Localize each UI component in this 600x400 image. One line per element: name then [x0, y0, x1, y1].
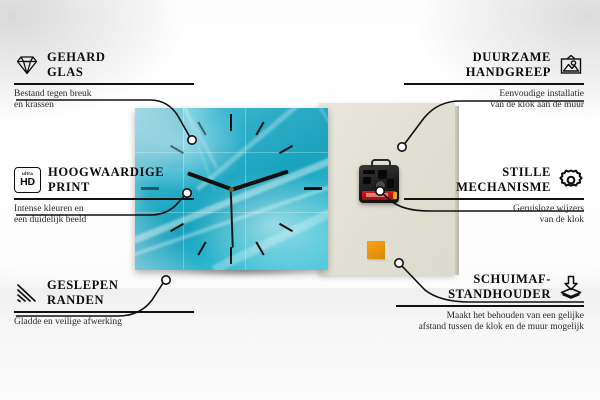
mechanism-hanger: [371, 159, 391, 169]
feature-title: HOOGWAARDIGE PRINT: [48, 165, 164, 195]
feature-header: GEHARD GLAS: [14, 50, 194, 80]
feature-description: Gladde en veilige afwerking: [14, 317, 194, 329]
feature-title: GESLEPEN RANDEN: [47, 278, 119, 308]
spacer-stamp-icon: [558, 275, 584, 299]
feature-duurzame-handgreep: DUURZAME HANDGREEP Eenvoudige installati…: [404, 50, 584, 112]
feature-stille-mechanisme: STILLE MECHANISME Geruisloze wijzers van…: [404, 165, 584, 227]
mechanism-slot: [363, 170, 375, 174]
clock-tick: [304, 187, 322, 190]
mechanism-slot: [378, 170, 387, 179]
feature-gehard-glas: GEHARD GLAS Bestand tegen breuk en krass…: [14, 50, 194, 112]
clock-mechanism: [359, 165, 399, 203]
feature-schuimafstandhouder: SCHUIMAF- STANDHOUDER Maakt het behouden…: [396, 272, 584, 334]
clock-tick: [197, 242, 206, 256]
feature-description: Bestand tegen breuk en krassen: [14, 89, 194, 112]
feature-divider: [404, 83, 584, 85]
infographic-canvas: GEHARD GLAS Bestand tegen breuk en krass…: [0, 0, 600, 400]
picture-frame-icon: [558, 53, 584, 77]
feature-title: GEHARD GLAS: [47, 50, 105, 80]
feature-header: STILLE MECHANISME: [404, 165, 584, 195]
feature-divider: [396, 305, 584, 307]
feature-header: GESLEPEN RANDEN: [14, 278, 194, 308]
feature-divider: [14, 83, 194, 85]
ultra-hd-icon: ultra HD: [14, 167, 41, 193]
feature-description: Eenvoudige installatie van de klok aan d…: [404, 89, 584, 112]
mechanism-slot: [363, 177, 371, 184]
feature-description: Intense kleuren en een duidelijk beeld: [14, 204, 194, 227]
feature-header: ultra HD HOOGWAARDIGE PRINT: [14, 165, 194, 195]
feature-description: Geruisloze wijzers van de klok: [404, 204, 584, 227]
feature-description: Maakt het behouden van een gelijke afsta…: [396, 311, 584, 334]
clock-tick: [230, 114, 232, 131]
feature-title: SCHUIMAF- STANDHOUDER: [448, 272, 551, 302]
mechanism-slot: [387, 179, 394, 188]
clock-center-cap: [229, 187, 234, 192]
battery-terminal: [393, 192, 397, 199]
feature-geslepen-randen: GESLEPEN RANDEN Gladde en veilige afwerk…: [14, 278, 194, 328]
feature-header: SCHUIMAF- STANDHOUDER: [396, 272, 584, 302]
gear-icon: [558, 168, 584, 192]
feature-divider: [14, 311, 194, 313]
foam-spacer-side: [385, 243, 389, 259]
feature-header: DUURZAME HANDGREEP: [404, 50, 584, 80]
foam-spacer: [367, 241, 385, 259]
feature-hoogwaardige-print: ultra HD HOOGWAARDIGE PRINT Intense kleu…: [14, 165, 194, 227]
feature-title: STILLE MECHANISME: [456, 165, 551, 195]
beveled-edges-icon: [14, 281, 40, 305]
feature-divider: [14, 198, 194, 200]
mechanism-battery: [362, 191, 396, 200]
feature-divider: [404, 198, 584, 200]
mechanism-dial: [375, 180, 386, 191]
clock-tick: [230, 247, 232, 264]
diamond-icon: [14, 53, 40, 77]
battery-label: [366, 193, 388, 197]
feature-title: DUURZAME HANDGREEP: [466, 50, 551, 80]
